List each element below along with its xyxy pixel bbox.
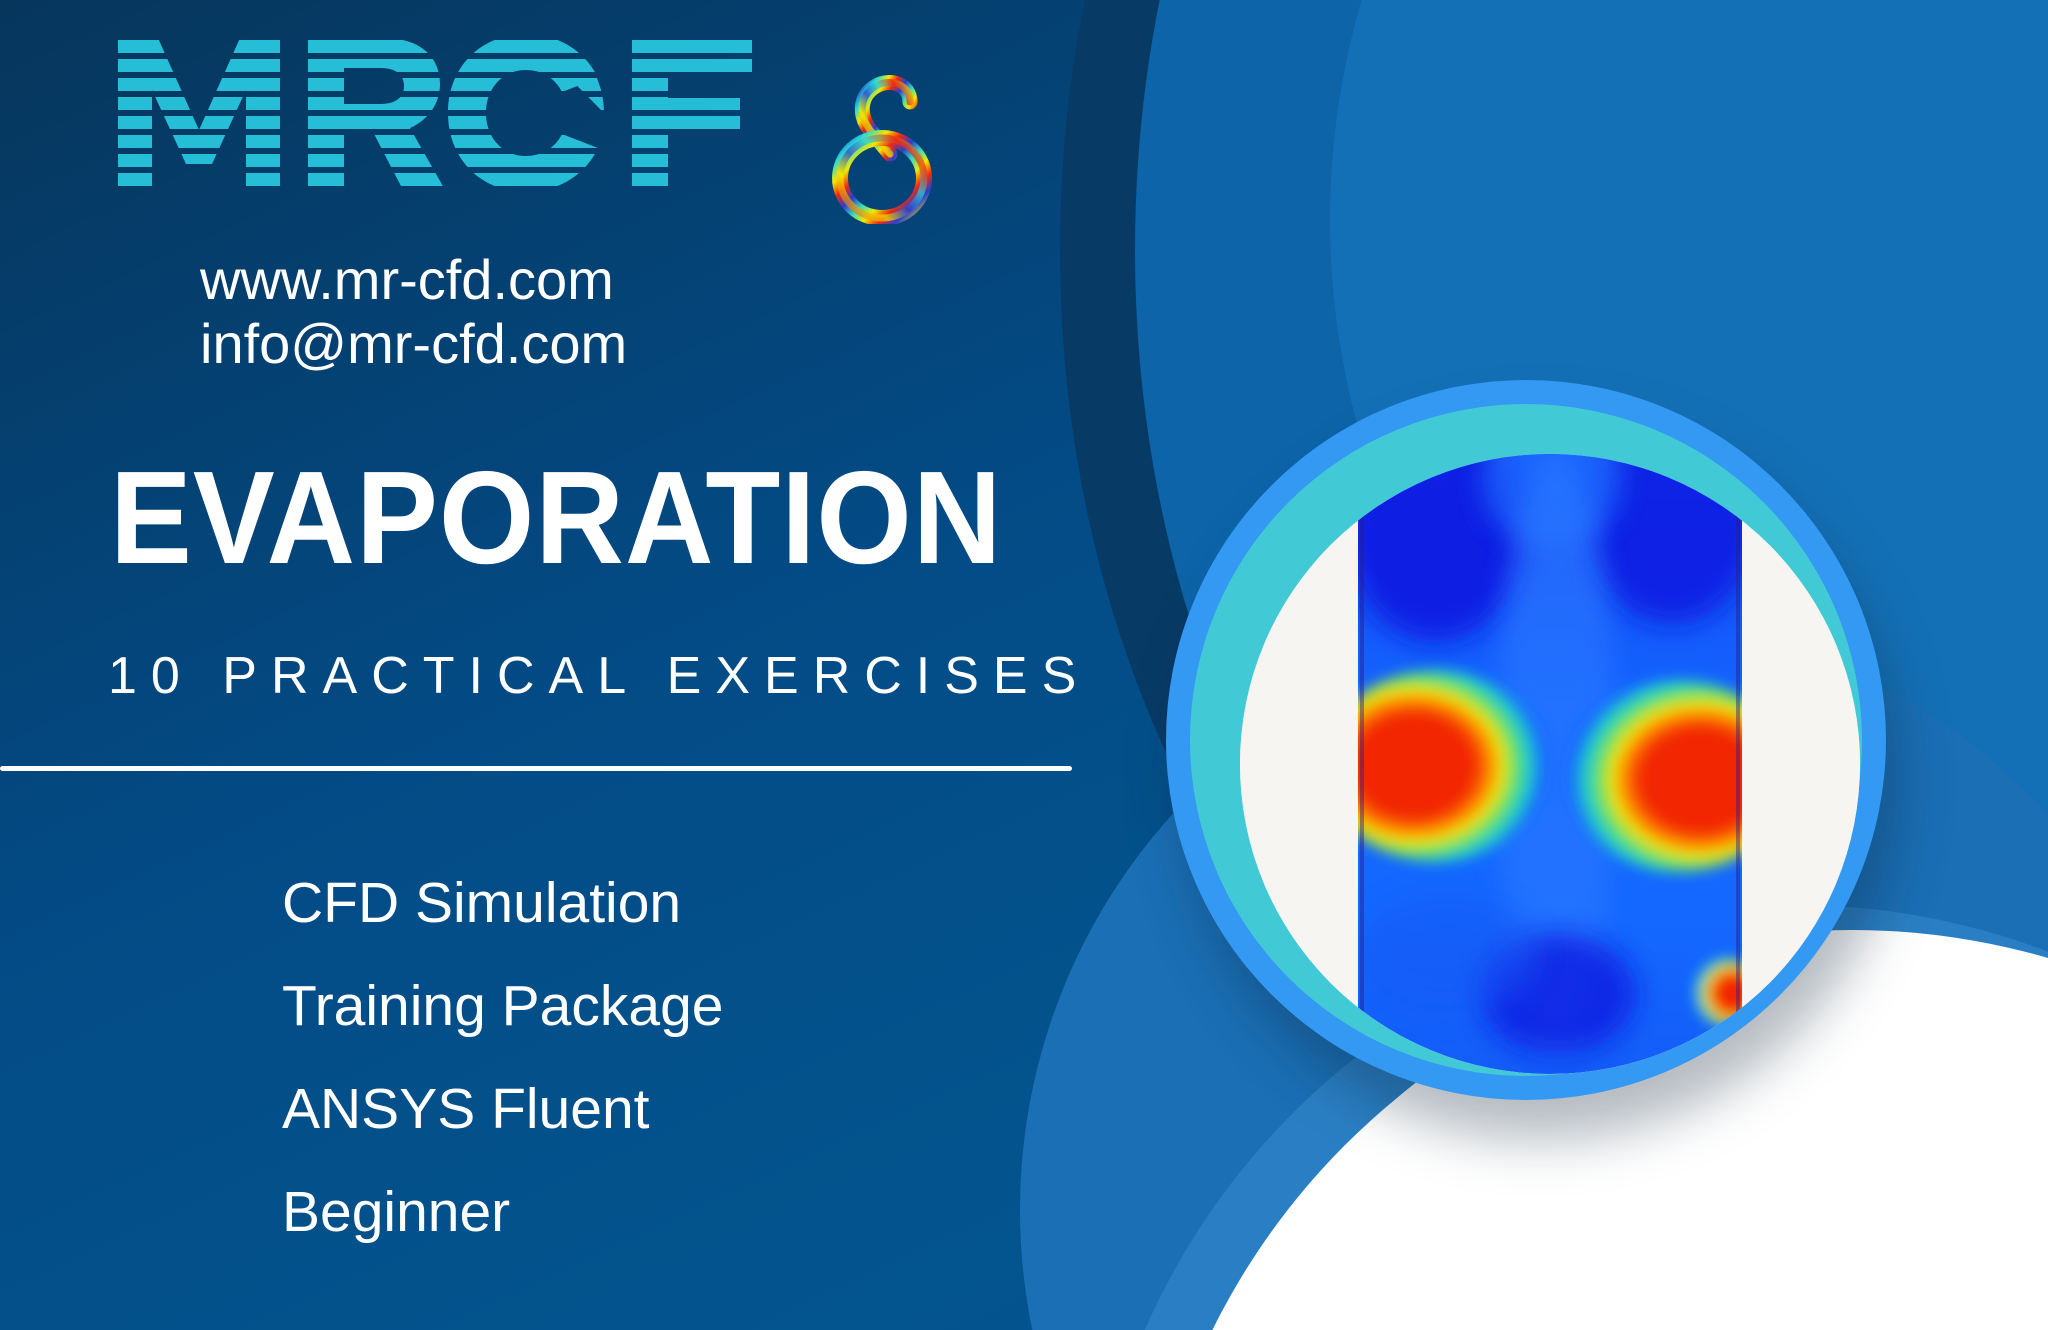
contact-info: www.mr-cfd.com info@mr-cfd.com (200, 248, 627, 376)
detail-list: CFD Simulation Training Package ANSYS Fl… (282, 852, 723, 1264)
website-text[interactable]: www.mr-cfd.com (200, 248, 627, 312)
logo-striped-letters-icon (112, 38, 832, 188)
poster-canvas: www.mr-cfd.com info@mr-cfd.com EVAPORATI… (0, 0, 2048, 1330)
email-text[interactable]: info@mr-cfd.com (200, 312, 627, 376)
list-item: CFD Simulation (282, 852, 723, 955)
cfd-figure-inner-ring (1190, 404, 1862, 1076)
list-item: ANSYS Fluent (282, 1058, 723, 1161)
cfd-figure-frame (1166, 380, 1886, 1100)
page-title: EVAPORATION (110, 452, 1002, 584)
cfd-contour-image (1240, 454, 1860, 1074)
list-item: Beginner (282, 1161, 723, 1264)
divider-line (0, 766, 1072, 771)
logo-delta-contour-icon (824, 74, 944, 224)
list-item: Training Package (282, 955, 723, 1058)
brand-logo (112, 38, 952, 188)
cfd-contour-svg (1240, 454, 1860, 1074)
page-subtitle: 10 PRACTICAL EXERCISES (108, 650, 1090, 702)
